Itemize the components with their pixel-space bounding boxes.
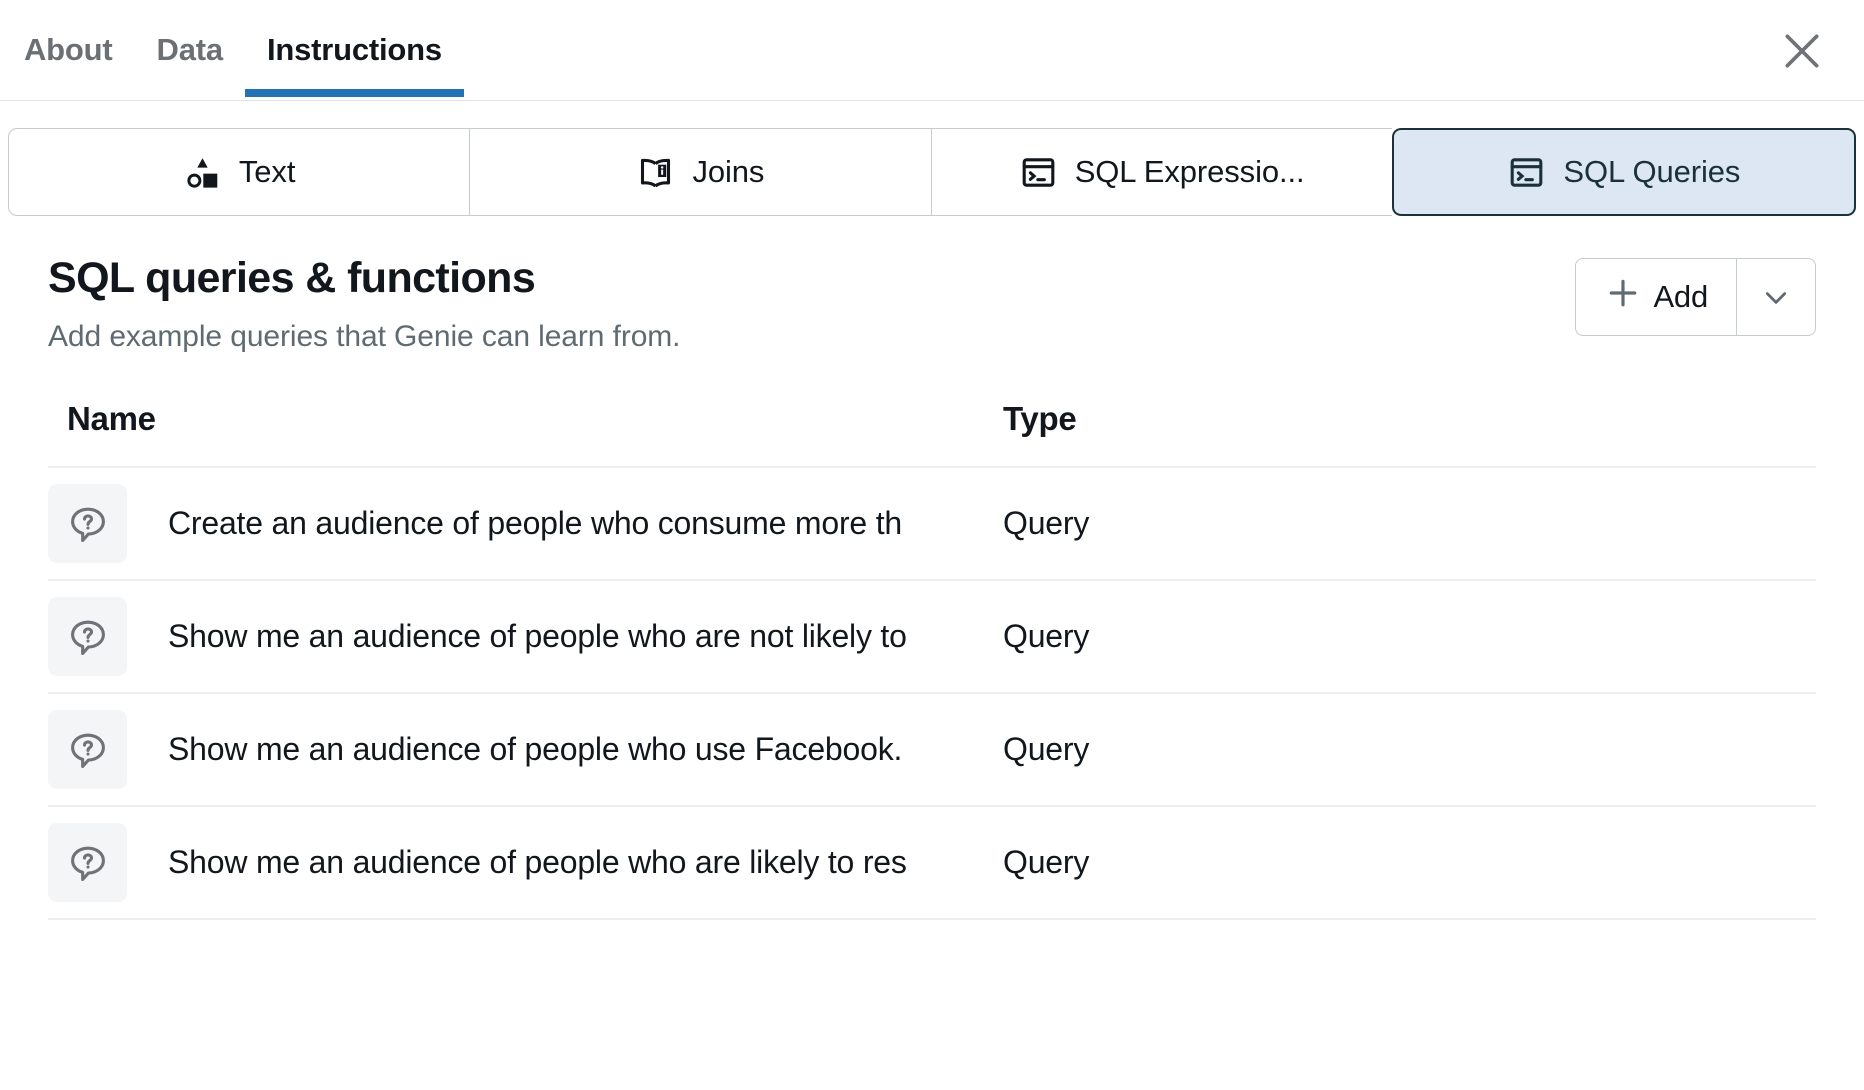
shapes-icon (183, 153, 222, 192)
column-header-name: Name (48, 400, 1003, 438)
panel-header: SQL queries & functions Add example quer… (48, 216, 1816, 354)
segment-text-label: Text (239, 154, 295, 190)
question-bubble-icon (48, 484, 127, 563)
row-type-label: Query (1003, 844, 1816, 881)
close-button[interactable] (1768, 17, 1836, 85)
question-bubble-icon (48, 597, 127, 676)
plus-icon (1604, 274, 1642, 320)
table-row[interactable]: Create an audience of people who consume… (48, 468, 1816, 581)
row-type-label: Query (1003, 731, 1816, 768)
segmented-control: Text Joins (8, 128, 1856, 216)
chevron-down-icon (1760, 281, 1792, 313)
table-header-row: Name Type (48, 400, 1816, 468)
book-info-icon (636, 153, 675, 192)
instruction-type-switcher: Text Joins (0, 101, 1864, 216)
table-row[interactable]: Show me an audience of people who use Fa… (48, 694, 1816, 807)
tab-data-label: Data (157, 32, 223, 68)
cell-name: Create an audience of people who consume… (48, 484, 1003, 563)
add-dropdown-button[interactable] (1736, 258, 1816, 336)
page-subtitle: Add example queries that Genie can learn… (48, 320, 680, 354)
segment-sql-expressions-label: SQL Expressio... (1075, 154, 1305, 190)
add-split-button: Add (1575, 258, 1816, 336)
terminal-icon (1019, 153, 1058, 192)
add-button-label: Add (1653, 279, 1708, 315)
page-title: SQL queries & functions (48, 254, 680, 303)
tab-about[interactable]: About (2, 0, 135, 100)
segment-joins[interactable]: Joins (469, 128, 930, 216)
row-name-label: Show me an audience of people who are no… (168, 618, 907, 655)
row-name-label: Create an audience of people who consume… (168, 505, 902, 542)
row-name-label: Show me an audience of people who are li… (168, 844, 907, 881)
segment-sql-queries[interactable]: SQL Queries (1392, 128, 1856, 216)
cell-name: Show me an audience of people who are no… (48, 597, 1003, 676)
cell-name: Show me an audience of people who use Fa… (48, 710, 1003, 789)
tab-instructions-label: Instructions (267, 32, 442, 68)
terminal-icon (1507, 153, 1546, 192)
queries-table: Name Type Create an audience of people w… (48, 400, 1816, 920)
cell-name: Show me an audience of people who are li… (48, 823, 1003, 902)
tab-instructions[interactable]: Instructions (245, 0, 464, 100)
table-row[interactable]: Show me an audience of people who are no… (48, 581, 1816, 694)
table-row[interactable]: Show me an audience of people who are li… (48, 807, 1816, 920)
close-icon (1780, 29, 1824, 73)
row-name-label: Show me an audience of people who use Fa… (168, 731, 902, 768)
panel-header-text: SQL queries & functions Add example quer… (48, 254, 680, 354)
column-header-type: Type (1003, 400, 1816, 438)
question-bubble-icon (48, 823, 127, 902)
row-type-label: Query (1003, 505, 1816, 542)
tab-data[interactable]: Data (135, 0, 245, 100)
add-button[interactable]: Add (1575, 258, 1736, 336)
segment-text[interactable]: Text (8, 128, 469, 216)
sql-queries-panel: SQL queries & functions Add example quer… (0, 216, 1864, 920)
question-bubble-icon (48, 710, 127, 789)
row-type-label: Query (1003, 618, 1816, 655)
tab-about-label: About (24, 32, 113, 68)
segment-sql-expressions[interactable]: SQL Expressio... (931, 128, 1392, 216)
top-tab-bar: About Data Instructions (0, 0, 1864, 101)
segment-sql-queries-label: SQL Queries (1563, 154, 1740, 190)
segment-joins-label: Joins (692, 154, 764, 190)
